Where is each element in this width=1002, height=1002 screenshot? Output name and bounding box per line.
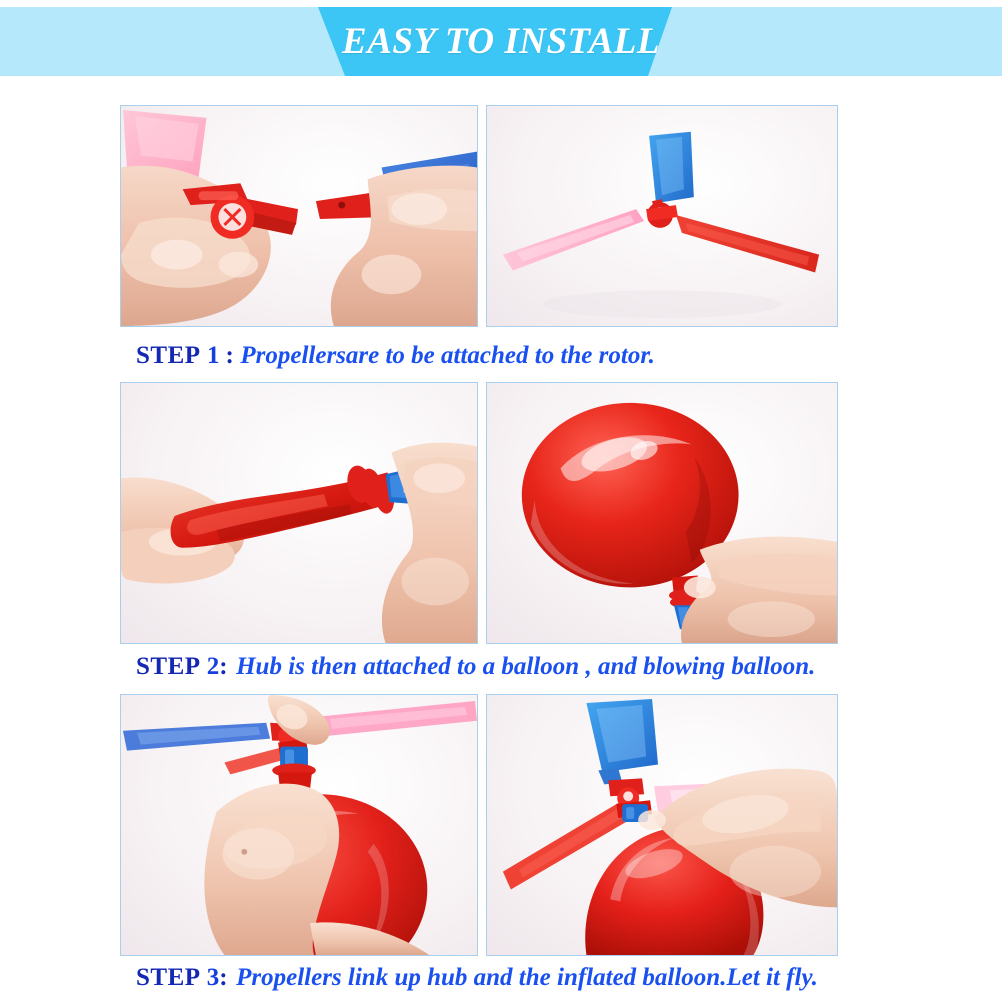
caption-step-3-number: 3 xyxy=(207,964,220,991)
caption-step-3-label: STEP xyxy=(136,964,201,991)
photo-linking-propeller-to-balloon xyxy=(121,695,477,955)
caption-step-2-label: STEP xyxy=(136,653,201,680)
caption-step-1-text: Propellersare to be attached to the roto… xyxy=(240,342,655,369)
caption-step-3: STEP 3:Propellers link up hub and the in… xyxy=(136,964,818,992)
caption-step-2: STEP 2:Hub is then attached to a balloon… xyxy=(136,653,815,681)
panel-inflated-balloon xyxy=(486,382,838,644)
caption-step-3-text: Propellers link up hub and the inflated … xyxy=(236,964,818,991)
caption-step-2-separator: : xyxy=(219,653,236,680)
panel-finished-balloon-helicopter xyxy=(486,694,838,956)
caption-step-1-number: 1 xyxy=(207,342,220,369)
caption-step-1-separator: : xyxy=(220,342,241,369)
photo-attaching-hub-to-deflated-balloon xyxy=(121,383,477,643)
panel-attaching-hub-to-deflated-balloon xyxy=(120,382,478,644)
caption-step-1-label: STEP xyxy=(136,342,201,369)
page-root: EASY TO INSTALL xyxy=(0,0,1002,1002)
panel-hands-holding-rotor-and-blade xyxy=(120,105,478,327)
page-title: EASY TO INSTALL xyxy=(0,7,1002,76)
photo-inflated-balloon xyxy=(487,383,837,643)
photo-finished-balloon-helicopter xyxy=(487,695,837,955)
photo-assembled-propeller xyxy=(487,106,837,326)
caption-step-2-text: Hub is then attached to a balloon , and … xyxy=(236,653,815,680)
caption-step-3-separator: : xyxy=(219,964,236,991)
panel-assembled-propeller xyxy=(486,105,838,327)
caption-step-1: STEP 1:Propellersare to be attached to t… xyxy=(136,340,655,370)
caption-step-2-number: 2 xyxy=(207,653,220,680)
photo-hands-holding-rotor-and-blade xyxy=(121,106,477,326)
panel-linking-propeller-to-balloon xyxy=(120,694,478,956)
